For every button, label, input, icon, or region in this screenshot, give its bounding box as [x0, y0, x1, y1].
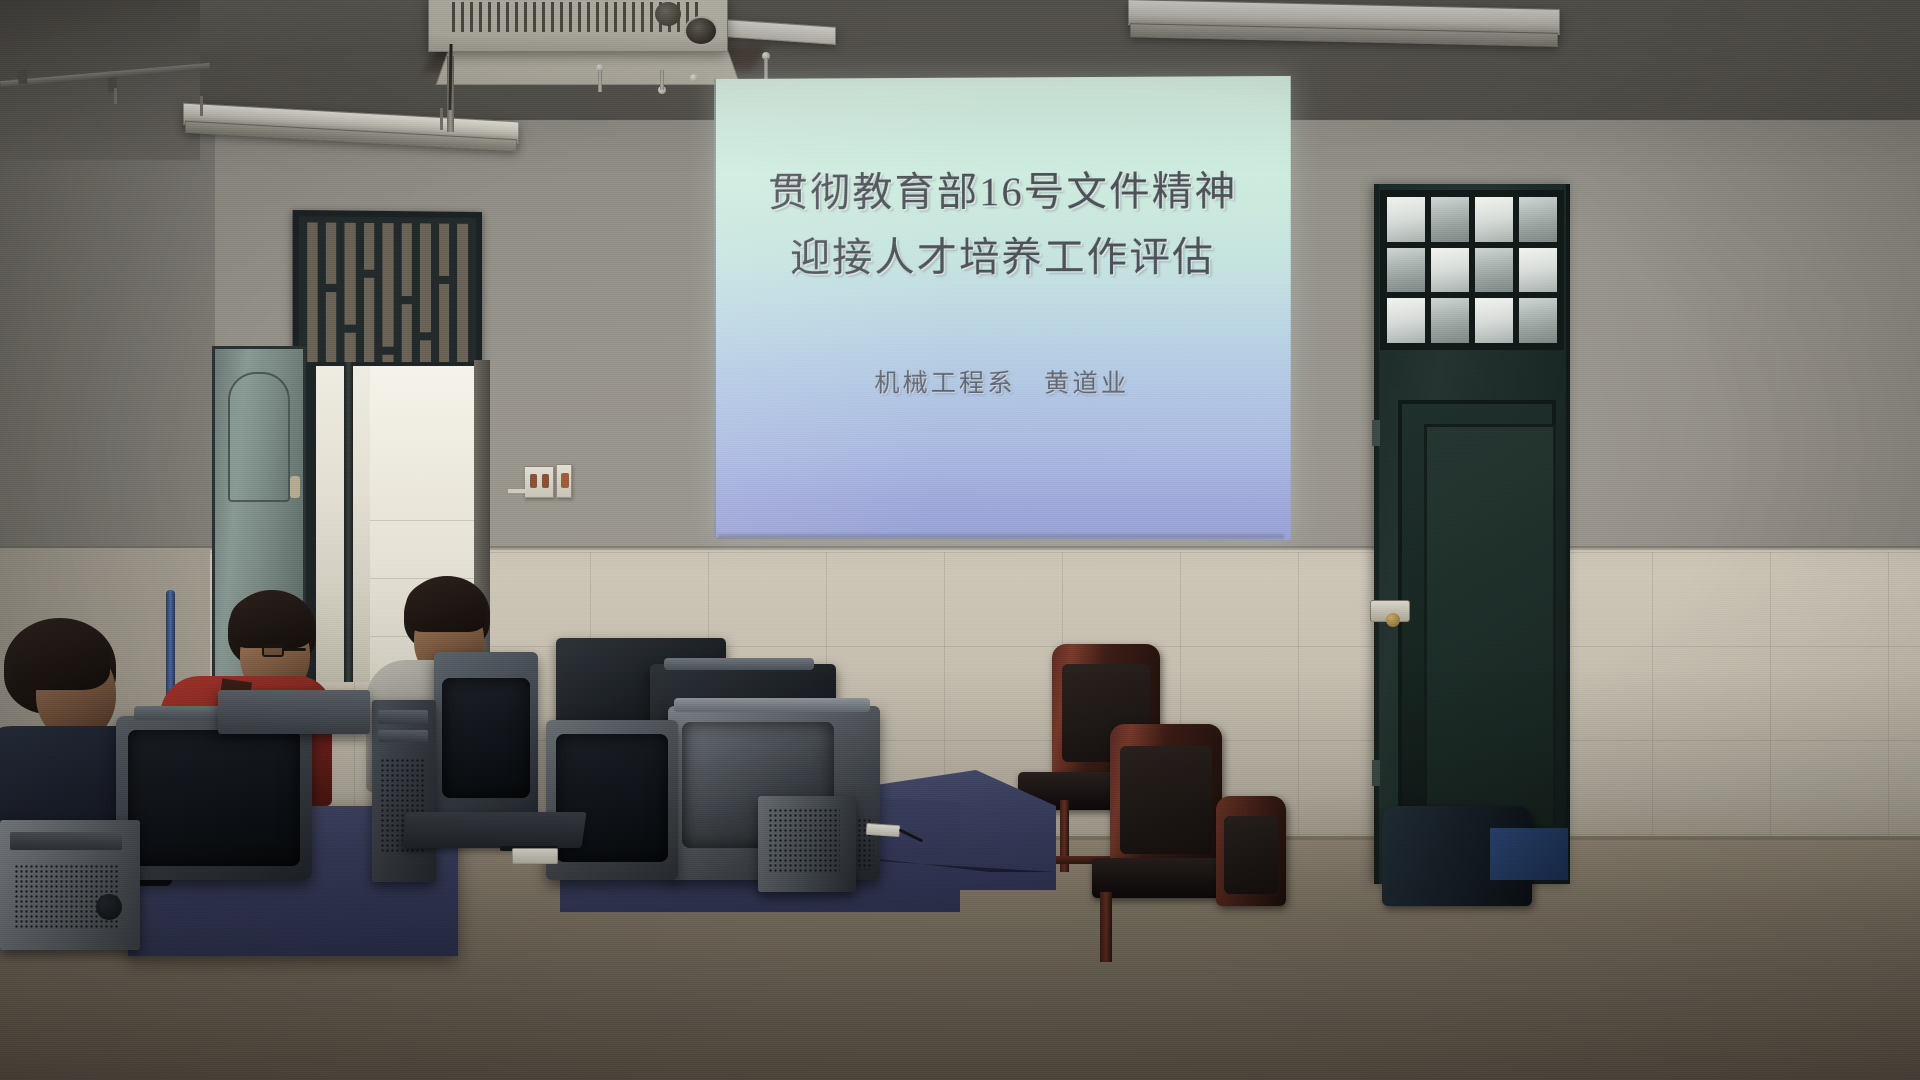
desk-label-tag — [512, 848, 558, 864]
projector-mount-rod — [660, 70, 664, 90]
door-handle[interactable] — [290, 476, 300, 498]
crt-monitor — [546, 720, 678, 880]
crt-monitor — [434, 652, 538, 828]
door-hinge — [1372, 760, 1380, 786]
projector-lens — [684, 16, 718, 46]
classroom-photo-scene: 贯彻教育部16号文件精神 迎接人才培养工作评估 机械工程系 黄道业 — [0, 0, 1920, 1080]
decorative-window-grille — [293, 210, 482, 372]
crt-monitor — [116, 716, 312, 880]
power-socket-plate[interactable] — [524, 466, 554, 498]
monitor-top-bezel — [674, 698, 870, 712]
projector-mount-screw — [690, 74, 698, 82]
light-hanger — [440, 108, 443, 130]
light-hanger — [114, 88, 117, 104]
door-knob[interactable] — [1386, 613, 1400, 627]
chair-cover-cloth — [1490, 828, 1568, 880]
socket-conduit — [508, 489, 526, 493]
computer-keyboard[interactable] — [401, 812, 586, 848]
eyeglasses-lens — [262, 644, 284, 657]
desktop-pc-tower — [0, 820, 140, 950]
slide-title-line-1: 贯彻教育部16号文件精神 — [768, 159, 1237, 225]
eyeglasses-bridge — [282, 648, 306, 651]
power-switch-plate[interactable] — [556, 464, 572, 498]
slide-title-line-2: 迎接人才培养工作评估 — [790, 225, 1215, 291]
monitor-top-bezel — [664, 658, 814, 670]
light-hanger — [200, 96, 203, 116]
screen-bottom-edge — [718, 534, 1284, 539]
doorway-mullion — [344, 362, 353, 682]
desktop-pc-tower — [218, 690, 370, 734]
door-hinge — [1372, 420, 1380, 446]
door-leaf-panel — [228, 372, 290, 502]
desktop-pc-tower — [372, 700, 436, 882]
projection-screen: 贯彻教育部16号文件精神 迎接人才培养工作评估 机械工程系 黄道业 — [716, 76, 1291, 540]
desktop-pc-tower — [758, 796, 856, 892]
projector-mount-rod — [598, 70, 602, 92]
door-transom-window — [1380, 190, 1564, 350]
desk-label-tag — [866, 823, 901, 837]
slide-subtitle: 机械工程系 黄道业 — [874, 363, 1129, 400]
conduit-clip — [17, 70, 27, 85]
projector-lens-secondary — [655, 2, 681, 26]
door-panel-inset — [1424, 424, 1556, 828]
